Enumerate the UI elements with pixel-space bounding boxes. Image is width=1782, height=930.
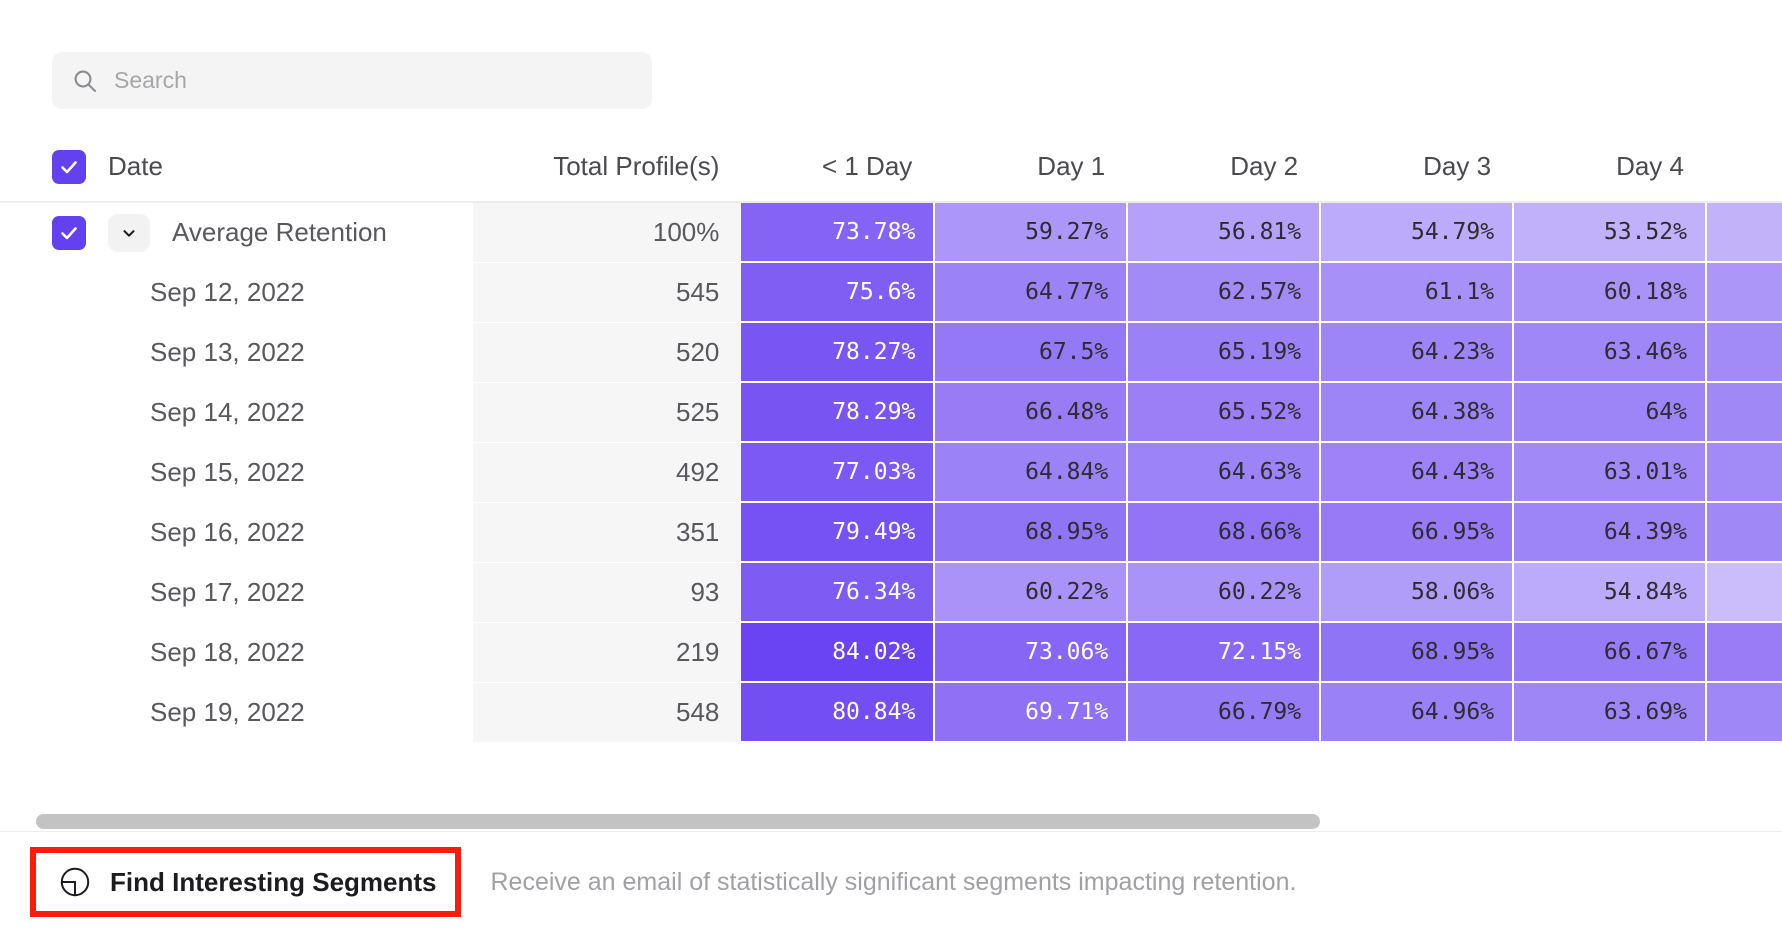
column-header-d1[interactable]: Day 1 [934,132,1127,202]
retention-cell[interactable]: 84.02% [741,622,934,682]
retention-cell[interactable]: 51.61% [1706,562,1782,622]
total-profiles-cell: 520 [473,322,742,382]
row-checkbox[interactable] [52,216,86,250]
retention-cell[interactable]: 60.22% [934,562,1127,622]
retention-cell[interactable]: 64.23% [1320,322,1513,382]
column-header-d3[interactable]: Day 3 [1320,132,1513,202]
select-all-checkbox[interactable] [52,150,86,184]
retention-cell[interactable]: 66.67% [1513,622,1706,682]
retention-cell[interactable]: 68.95% [934,502,1127,562]
retention-cell[interactable]: 53.52% [1513,202,1706,262]
row-label: Sep 12, 2022 [52,277,305,308]
table-body: Average Retention100%73.78%59.27%56.81%5… [0,202,1782,742]
retention-cell[interactable]: 68.95% [1320,622,1513,682]
column-header-label: Day 4 [1616,151,1684,181]
retention-cell[interactable]: 63.25% [1706,502,1782,562]
retention-cell[interactable]: 73.06% [934,622,1127,682]
total-profiles-cell: 548 [473,682,742,742]
retention-cell[interactable]: 65.52% [1127,382,1320,442]
retention-cell[interactable]: 64.43% [1320,442,1513,502]
row-label: Sep 15, 2022 [52,457,305,488]
row-label: Sep 17, 2022 [52,577,305,608]
column-header-label: Day 1 [1037,151,1105,181]
row-label-cell[interactable]: Sep 19, 2022 [0,682,473,742]
retention-cell[interactable]: 64.39% [1513,502,1706,562]
column-header-d5[interactable]: Day 5 [1706,132,1782,202]
retention-cell[interactable]: 54.84% [1513,562,1706,622]
retention-cell[interactable]: 64.96% [1320,682,1513,742]
row-label-cell[interactable]: Sep 18, 2022 [0,622,473,682]
retention-cell[interactable]: 62.69% [1706,322,1782,382]
retention-table: DateTotal Profile(s)< 1 DayDay 1Day 2Day… [0,132,1782,743]
pie-chart-icon [58,865,92,899]
row-label: Sep 16, 2022 [52,517,305,548]
retention-cell[interactable]: 64.77% [934,262,1127,322]
footer-bar: Find Interesting Segments Receive an ema… [0,834,1782,930]
footer-note: Receive an email of statistically signif… [491,868,1297,897]
row-label-cell[interactable]: Sep 12, 2022 [0,262,473,322]
column-header-total[interactable]: Total Profile(s) [473,132,742,202]
horizontal-scrollbar-track[interactable] [0,812,1782,832]
retention-cell[interactable]: 63.46% [1513,322,1706,382]
row-label-cell[interactable]: Sep 14, 2022 [0,382,473,442]
row-label-cell[interactable]: Sep 15, 2022 [0,442,473,502]
retention-cell[interactable]: 59.27% [934,202,1127,262]
table-row[interactable]: Sep 14, 202252578.29%66.48%65.52%64.38%6… [0,382,1782,442]
table-bottom-divider [0,831,1782,832]
table-row[interactable]: Sep 17, 20229376.34%60.22%60.22%58.06%54… [0,562,1782,622]
table-row[interactable]: Sep 12, 202254575.6%64.77%62.57%61.1%60.… [0,262,1782,322]
retention-cell[interactable]: 62.57% [1127,262,1320,322]
total-profiles-cell: 219 [473,622,742,682]
retention-cell[interactable]: 58.06% [1320,562,1513,622]
row-label: Sep 13, 2022 [52,337,305,368]
column-header-d4[interactable]: Day 4 [1513,132,1706,202]
retention-cell[interactable]: 53.26% [1706,202,1782,262]
retention-cell[interactable]: 61.1% [1320,262,1513,322]
total-profiles-cell: 492 [473,442,742,502]
retention-cell[interactable]: 66.21% [1706,622,1782,682]
row-label: Average Retention [172,217,387,248]
retention-cell[interactable]: 68.66% [1127,502,1320,562]
horizontal-scrollbar-thumb[interactable] [36,814,1320,829]
retention-cell[interactable]: 64.63% [1127,442,1320,502]
retention-cell[interactable]: 64.38% [1320,382,1513,442]
total-profiles-cell: 100% [473,202,742,262]
retention-cell[interactable]: 79.49% [741,502,934,562]
row-label: Sep 19, 2022 [52,697,305,728]
table-row[interactable]: Sep 13, 202252078.27%67.5%65.19%64.23%63… [0,322,1782,382]
column-header-label: Day 2 [1230,151,1298,181]
search-icon [72,68,98,94]
retention-cell[interactable]: 72.15% [1127,622,1320,682]
chevron-down-icon[interactable] [108,214,150,252]
row-label-cell[interactable]: Sep 17, 2022 [0,562,473,622]
retention-cell[interactable]: 80.84% [741,682,934,742]
total-profiles-cell: 351 [473,502,742,562]
column-header-d2[interactable]: Day 2 [1127,132,1320,202]
total-profiles-cell: 545 [473,262,742,322]
retention-cell[interactable]: 63.69% [1513,682,1706,742]
retention-cell[interactable]: 78.29% [741,382,934,442]
header-row: DateTotal Profile(s)< 1 DayDay 1Day 2Day… [0,132,1782,202]
retention-cell[interactable]: 65.19% [1127,322,1320,382]
retention-cell[interactable]: 73.78% [741,202,934,262]
retention-cell[interactable]: 77.03% [741,442,934,502]
search-bar[interactable] [52,52,652,109]
column-header-date[interactable]: Date [0,132,473,202]
retention-cell[interactable]: 66.48% [934,382,1127,442]
table-row[interactable]: Sep 19, 202254880.84%69.71%66.79%64.96%6… [0,682,1782,742]
row-label-cell[interactable]: Average Retention [0,202,473,262]
retention-cell[interactable]: 62.6% [1706,442,1782,502]
row-label: Sep 14, 2022 [52,397,305,428]
retention-cell[interactable]: 63.32% [1706,682,1782,742]
retention-cell[interactable]: 76.34% [741,562,934,622]
retention-cell[interactable]: 63.01% [1513,442,1706,502]
retention-cell[interactable]: 64.84% [934,442,1127,502]
retention-cell[interactable]: 60.22% [1127,562,1320,622]
table-row[interactable]: Sep 18, 202221984.02%73.06%72.15%68.95%6… [0,622,1782,682]
row-label-cell[interactable]: Sep 13, 2022 [0,322,473,382]
retention-cell[interactable]: 59.27% [1706,262,1782,322]
table-row[interactable]: Sep 16, 202235179.49%68.95%68.66%66.95%6… [0,502,1782,562]
retention-cell[interactable]: 67.5% [934,322,1127,382]
table-row[interactable]: Average Retention100%73.78%59.27%56.81%5… [0,202,1782,262]
column-header-label: < 1 Day [822,151,912,181]
column-header-label: Total Profile(s) [553,151,719,181]
search-input[interactable] [114,67,632,94]
row-label: Sep 18, 2022 [52,637,305,668]
retention-cell[interactable]: 56.81% [1127,202,1320,262]
retention-cell[interactable]: 66.95% [1320,502,1513,562]
retention-cell[interactable]: 78.27% [741,322,934,382]
column-header-label: Date [108,151,163,182]
column-header-d0[interactable]: < 1 Day [741,132,934,202]
table-row[interactable]: Sep 15, 202249277.03%64.84%64.63%64.43%6… [0,442,1782,502]
table-header: DateTotal Profile(s)< 1 DayDay 1Day 2Day… [0,132,1782,202]
retention-cell[interactable]: 64% [1513,382,1706,442]
retention-cell[interactable]: 69.71% [934,682,1127,742]
column-header-label: Day 3 [1423,151,1491,181]
find-interesting-segments-label: Find Interesting Segments [110,867,437,898]
retention-cell[interactable]: 66.79% [1127,682,1320,742]
total-profiles-cell: 525 [473,382,742,442]
row-label-cell[interactable]: Sep 16, 2022 [0,502,473,562]
retention-cell[interactable]: 60.18% [1513,262,1706,322]
retention-table-scroll-area[interactable]: DateTotal Profile(s)< 1 DayDay 1Day 2Day… [0,132,1782,820]
retention-cell[interactable]: 75.6% [741,262,934,322]
total-profiles-cell: 93 [473,562,742,622]
retention-cell[interactable]: 63.24% [1706,382,1782,442]
retention-cell[interactable]: 54.79% [1320,202,1513,262]
find-interesting-segments-button[interactable]: Find Interesting Segments [30,847,461,917]
